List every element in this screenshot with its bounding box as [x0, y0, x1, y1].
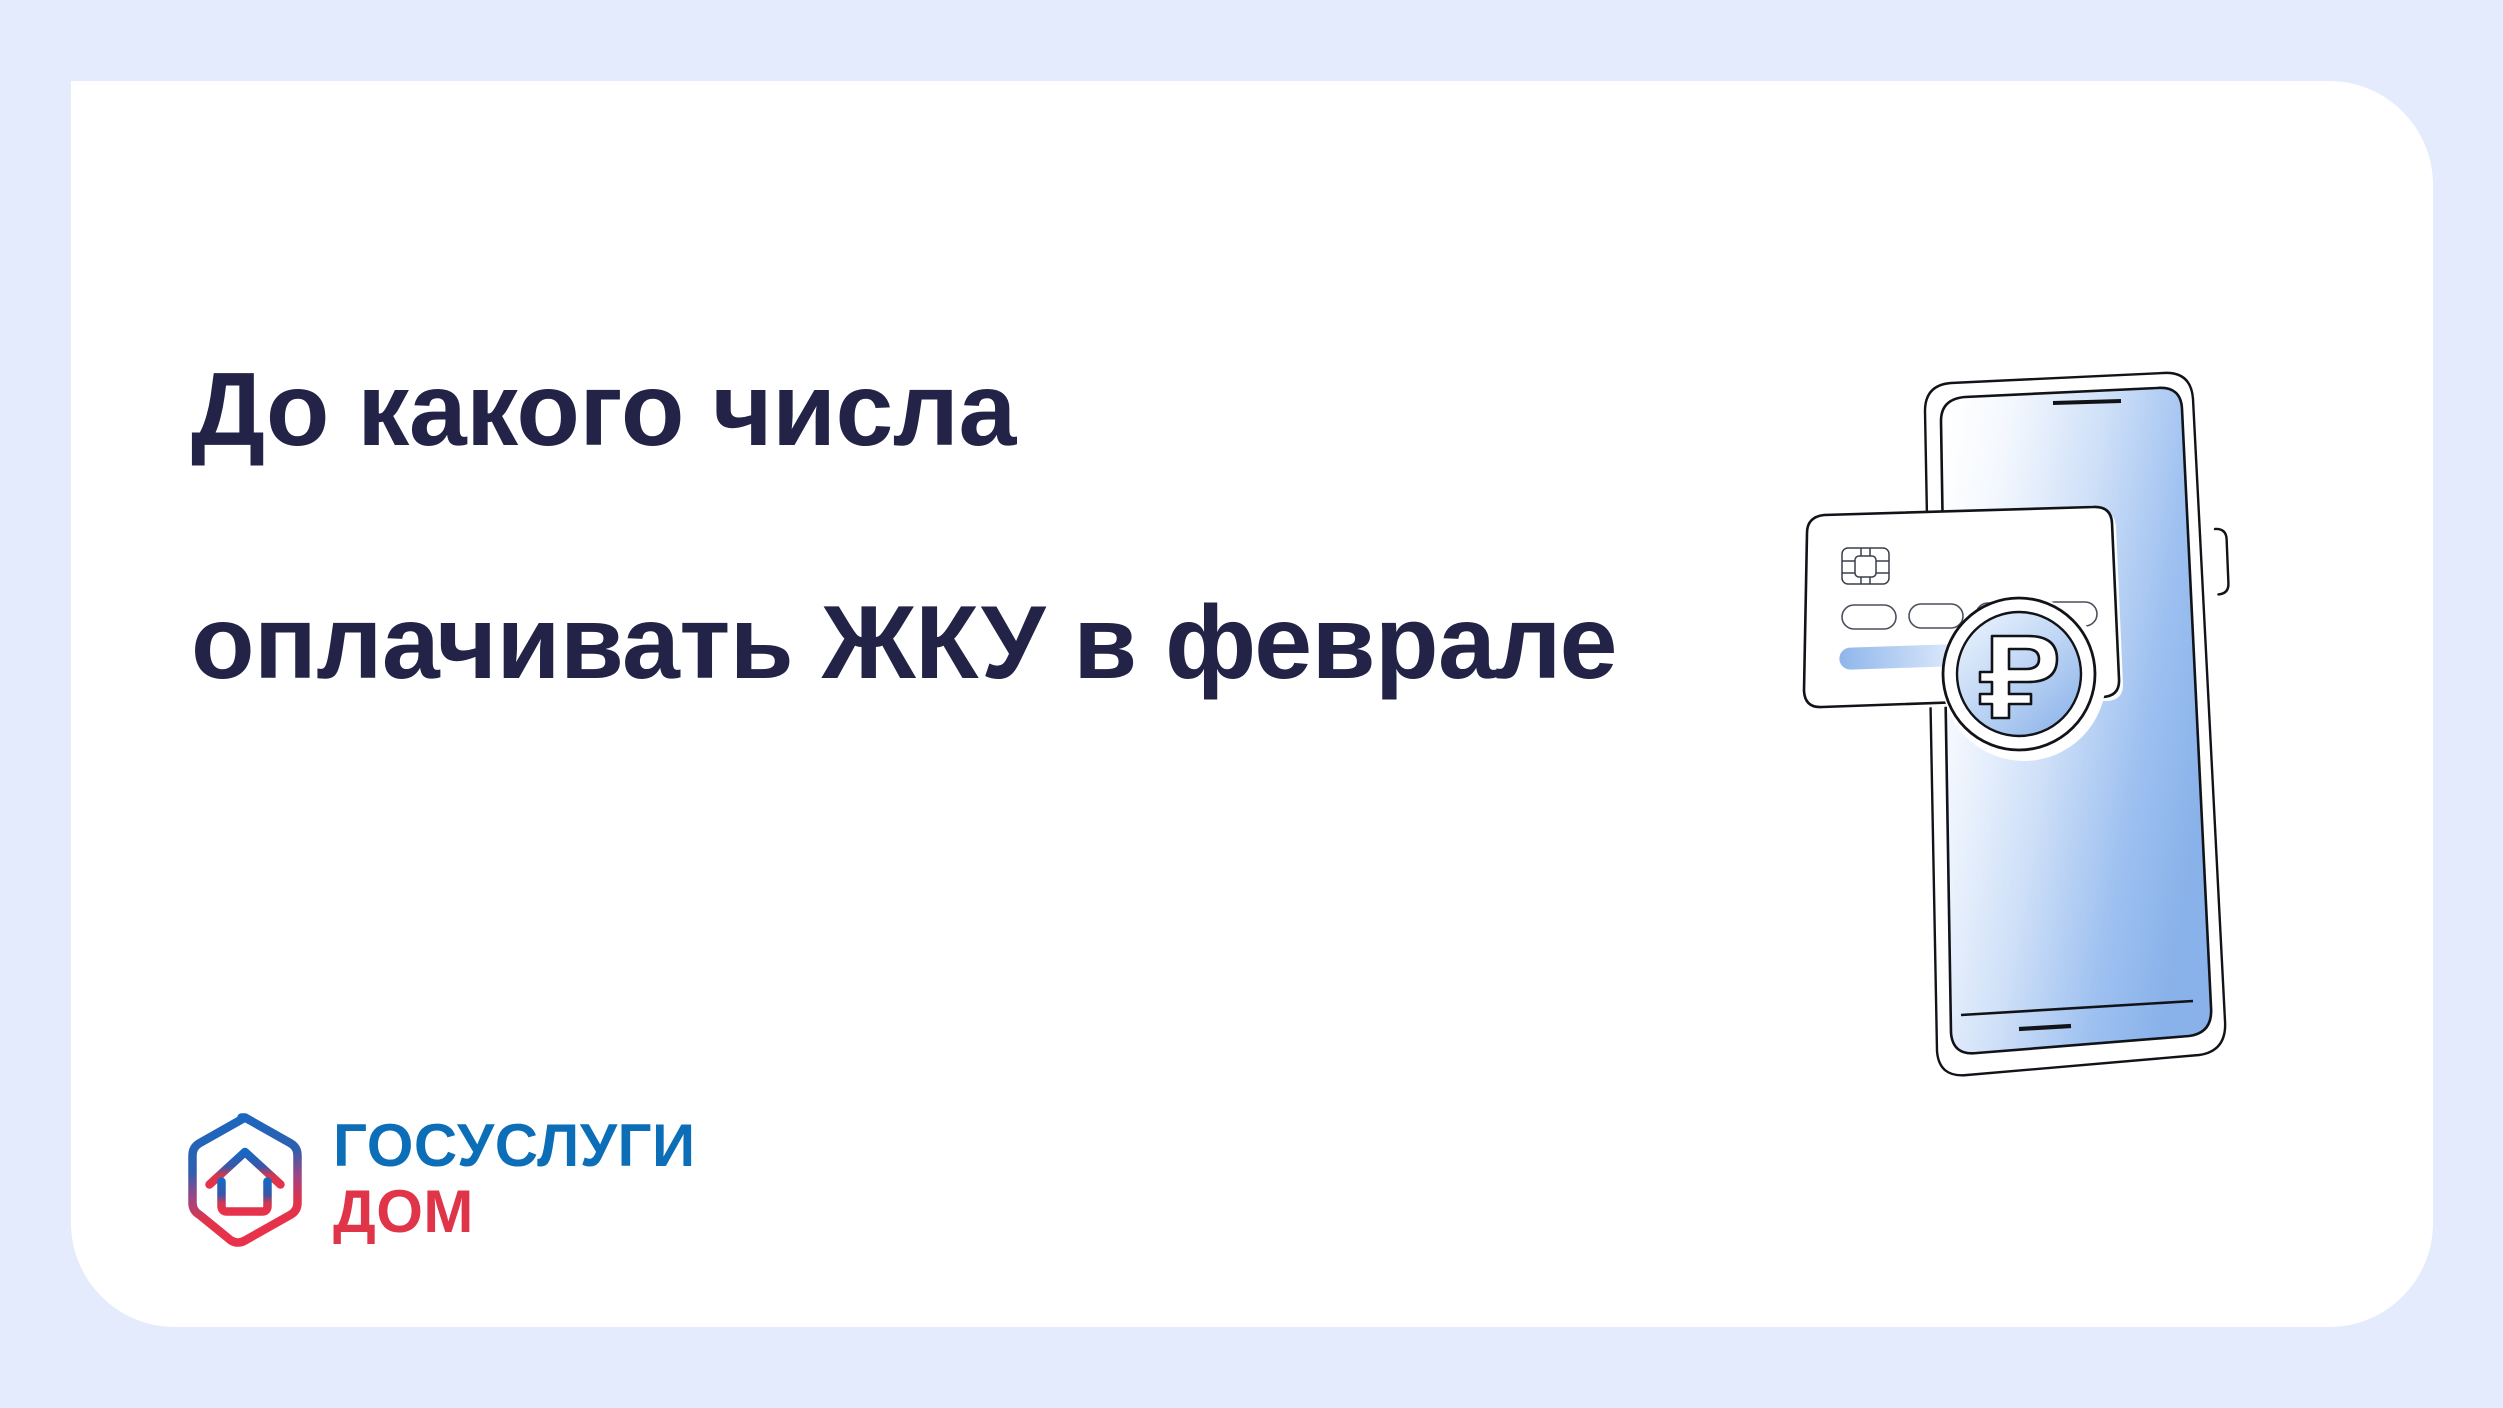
- page-title: До какого числа оплачивать ЖКУ в феврале: [191, 236, 1951, 818]
- brand-wordmark: ГОСУСЛУГИ ДОМ: [333, 1116, 696, 1242]
- phone-home-indicator: [2019, 1026, 2071, 1029]
- poster-root: До какого числа оплачивать ЖКУ в феврале: [0, 0, 2503, 1408]
- page-title-line-2: оплачивать ЖКУ в феврале: [191, 585, 1951, 701]
- brand-wordmark-gosuslugi: ГОСУСЛУГИ: [333, 1116, 696, 1176]
- phone-power-button: [2215, 529, 2228, 594]
- phone-speaker-slit: [2053, 401, 2121, 403]
- brand-logo[interactable]: ГОСУСЛУГИ ДОМ: [183, 1111, 696, 1247]
- illustration-svg: [1781, 361, 2341, 1101]
- brand-wordmark-dom: ДОМ: [333, 1182, 696, 1242]
- page-title-line-1: До какого числа: [191, 352, 1951, 468]
- phone-card-coin-illustration: [1781, 361, 2341, 1101]
- ruble-coin: [1942, 597, 2106, 761]
- hexagon-house-icon: [183, 1111, 307, 1247]
- content-card: До какого числа оплачивать ЖКУ в феврале: [71, 81, 2433, 1327]
